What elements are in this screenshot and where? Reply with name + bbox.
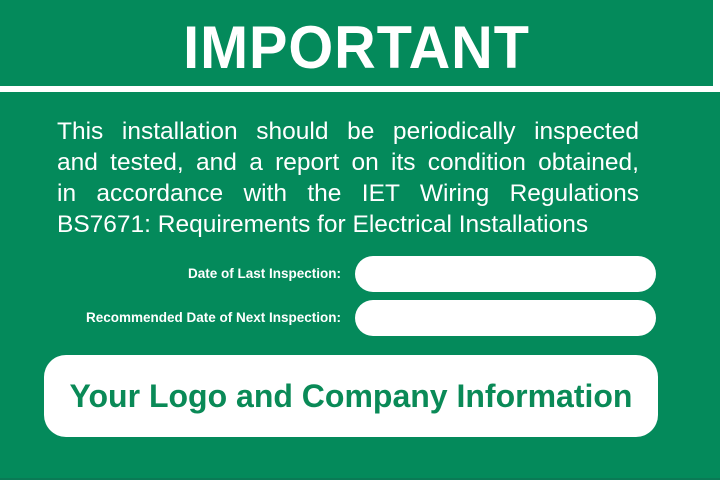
- label-recommended-date-of-next-inspection: Recommended Date of Next Inspection:: [86, 300, 341, 336]
- logo-and-company-information-button[interactable]: Your Logo and Company Information: [44, 355, 658, 437]
- notice-line-2: and tested, and a report on its conditio…: [57, 147, 639, 178]
- form-row-last-inspection: Date of Last Inspection:: [0, 256, 713, 292]
- input-recommended-date-of-next-inspection[interactable]: [355, 300, 656, 336]
- electrical-installation-label: IMPORTANT This installation should be pe…: [0, 0, 720, 483]
- inspection-dates-form: Date of Last Inspection: Recommended Dat…: [0, 256, 713, 344]
- notice-line-1: This installation should be periodically…: [57, 116, 639, 147]
- bottom-rule: [0, 478, 720, 480]
- notice-line-3: in accordance with the IET Wiring Regula…: [57, 178, 639, 209]
- label-date-of-last-inspection: Date of Last Inspection:: [188, 256, 341, 292]
- page-title: IMPORTANT: [14, 16, 698, 80]
- notice-body-text: This installation should be periodically…: [57, 116, 639, 240]
- form-row-next-inspection: Recommended Date of Next Inspection:: [0, 300, 713, 336]
- title-divider: [0, 86, 720, 92]
- notice-line-4: BS7671: Requirements for Electrical Inst…: [57, 209, 639, 240]
- input-date-of-last-inspection[interactable]: [355, 256, 656, 292]
